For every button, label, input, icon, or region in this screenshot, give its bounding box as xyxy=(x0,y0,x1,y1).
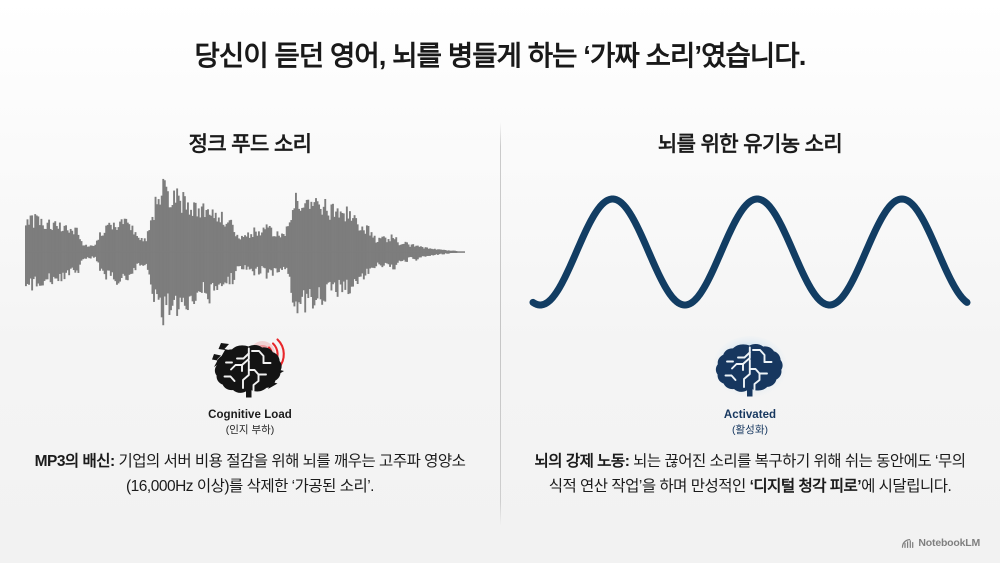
audio-waveform-visual xyxy=(15,174,485,334)
brain-glow-icon-block xyxy=(515,334,985,406)
column-heading-right: 뇌를 위한 유기농 소리 xyxy=(515,118,985,168)
watermark: NotebookLM xyxy=(901,537,980,549)
sine-wave-visual xyxy=(515,174,985,334)
status-sublabel: (활성화) xyxy=(515,423,985,438)
column-divider xyxy=(500,122,501,526)
brain-glow-icon xyxy=(711,337,789,403)
caption-right-lead: 뇌의 강제 노동: xyxy=(535,453,630,470)
caption-left-rest: 기업의 서버 비용 절감을 위해 뇌를 깨우는 고주파 영양소(16,000Hz… xyxy=(115,453,466,495)
brain-pain-icon-block xyxy=(15,334,485,406)
brain-pain-icon xyxy=(212,337,288,403)
watermark-label: NotebookLM xyxy=(918,537,980,549)
status-label: Cognitive Load xyxy=(15,408,485,423)
column-heading-left: 정크 푸드 소리 xyxy=(15,118,485,168)
status-cognitive-load: Cognitive Load (인지 부하) xyxy=(15,408,485,438)
caption-right-bold2: ‘디지털 청각 피로’ xyxy=(750,478,862,495)
caption-right-tail: 에 시달립니다. xyxy=(861,478,951,495)
caption-right: 뇌의 강제 노동: 뇌는 끊어진 소리를 복구하기 위해 쉬는 동안에도 ‘무의… xyxy=(515,449,985,499)
caption-left: MP3의 배신: 기업의 서버 비용 절감을 위해 뇌를 깨우는 고주파 영양소… xyxy=(15,449,485,499)
status-sublabel: (인지 부하) xyxy=(15,423,485,438)
caption-left-lead: MP3의 배신: xyxy=(35,453,115,470)
notebooklm-logo-icon xyxy=(901,538,914,549)
page-title: 당신이 듣던 영어, 뇌를 병들게 하는 ‘가짜 소리’였습니다. xyxy=(195,33,806,73)
column-organic-sound: 뇌를 위한 유기농 소리 xyxy=(515,118,985,538)
column-junk-food-sound: 정크 푸드 소리 xyxy=(15,118,485,538)
status-label: Activated xyxy=(515,408,985,423)
status-activated: Activated (활성화) xyxy=(515,408,985,438)
page-header: 당신이 듣던 영어, 뇌를 병들게 하는 ‘가짜 소리’였습니다. xyxy=(0,0,1000,105)
